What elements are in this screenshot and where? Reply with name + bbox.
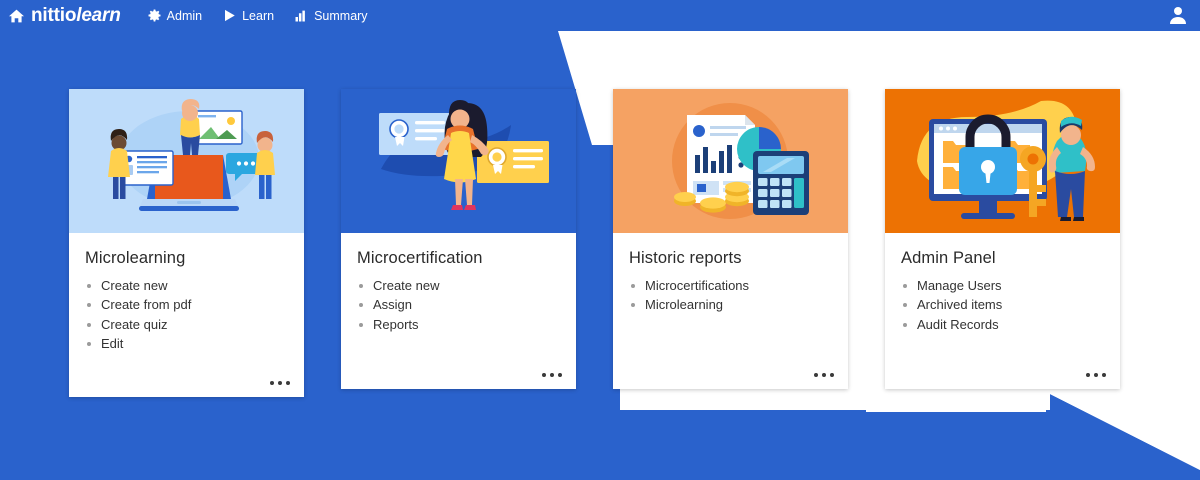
dot-icon xyxy=(550,373,555,378)
card-art-historic-reports xyxy=(613,89,848,233)
dot-icon xyxy=(270,381,275,386)
top-navigation-bar: nittiolearn Admin Learn Summary xyxy=(0,0,1200,31)
reports-calculator-illustration xyxy=(613,89,848,233)
card-link-edit[interactable]: Edit xyxy=(85,334,288,353)
bar-chart-icon xyxy=(294,8,309,23)
brand-name-bold: nittio xyxy=(31,5,76,26)
dot-icon xyxy=(278,381,283,386)
brand-name-italic: learn xyxy=(76,5,120,26)
card-art-microlearning xyxy=(69,89,304,233)
card-body-microlearning: Microlearning Create new Create from pdf… xyxy=(69,233,304,397)
card-link-archived-items[interactable]: Archived items xyxy=(901,295,1104,314)
dot-icon xyxy=(814,373,819,378)
dot-icon xyxy=(1102,373,1107,378)
dot-icon xyxy=(558,373,563,378)
app-root: nittiolearn Admin Learn Summary xyxy=(0,0,1200,480)
card-art-microcertification xyxy=(341,89,576,233)
card-body-admin-panel: Admin Panel Manage Users Archived items … xyxy=(885,233,1120,389)
card-title-microlearning: Microlearning xyxy=(85,249,288,268)
card-link-reports[interactable]: Reports xyxy=(357,315,560,334)
nav-item-learn[interactable]: Learn xyxy=(222,8,274,23)
card-link-audit-records[interactable]: Audit Records xyxy=(901,315,1104,334)
user-avatar-icon[interactable] xyxy=(1166,3,1190,27)
card-microlearning[interactable]: Microlearning Create new Create from pdf… xyxy=(69,89,304,397)
gear-icon xyxy=(147,8,162,23)
card-link-microlearning[interactable]: Microlearning xyxy=(629,295,832,314)
card-body-microcertification: Microcertification Create new Assign Rep… xyxy=(341,233,576,389)
dot-icon xyxy=(830,373,835,378)
home-icon[interactable] xyxy=(8,8,25,24)
certificate-woman-illustration xyxy=(341,89,576,233)
dot-icon xyxy=(1094,373,1099,378)
nav-item-admin[interactable]: Admin xyxy=(147,8,202,23)
card-title-microcertification: Microcertification xyxy=(357,249,560,268)
more-options-button-historic-reports[interactable] xyxy=(814,373,835,378)
elearning-laptop-illustration xyxy=(69,89,304,233)
card-link-create-from-pdf[interactable]: Create from pdf xyxy=(85,295,288,314)
brand-logo-group[interactable]: nittiolearn xyxy=(8,5,121,27)
more-options-button-admin-panel[interactable] xyxy=(1086,373,1107,378)
card-microcertification[interactable]: Microcertification Create new Assign Rep… xyxy=(341,89,576,389)
card-links-historic-reports: Microcertifications Microlearning xyxy=(629,276,832,315)
card-links-microcertification: Create new Assign Reports xyxy=(357,276,560,334)
card-historic-reports[interactable]: Historic reports Microcertifications Mic… xyxy=(613,89,848,389)
more-options-button-microcertification[interactable] xyxy=(542,373,563,378)
card-link-assign[interactable]: Assign xyxy=(357,295,560,314)
card-link-create-new[interactable]: Create new xyxy=(85,276,288,295)
card-body-historic-reports: Historic reports Microcertifications Mic… xyxy=(613,233,848,389)
card-title-admin-panel: Admin Panel xyxy=(901,249,1104,268)
nav-label-admin: Admin xyxy=(167,9,202,23)
play-icon xyxy=(222,8,237,23)
nav-label-learn: Learn xyxy=(242,9,274,23)
card-art-admin-panel xyxy=(885,89,1120,233)
dot-icon xyxy=(542,373,547,378)
nav-item-summary[interactable]: Summary xyxy=(294,8,367,23)
card-link-create-quiz[interactable]: Create quiz xyxy=(85,315,288,334)
card-link-microcertifications[interactable]: Microcertifications xyxy=(629,276,832,295)
card-title-historic-reports: Historic reports xyxy=(629,249,832,268)
dot-icon xyxy=(822,373,827,378)
card-links-admin-panel: Manage Users Archived items Audit Record… xyxy=(901,276,1104,334)
card-link-create-new[interactable]: Create new xyxy=(357,276,560,295)
security-lock-illustration xyxy=(885,89,1120,233)
dot-icon xyxy=(286,381,291,386)
more-options-button-microlearning[interactable] xyxy=(270,381,291,386)
dot-icon xyxy=(1086,373,1091,378)
card-links-microlearning: Create new Create from pdf Create quiz E… xyxy=(85,276,288,354)
card-admin-panel[interactable]: Admin Panel Manage Users Archived items … xyxy=(885,89,1120,389)
nav-label-summary: Summary xyxy=(314,9,367,23)
card-link-manage-users[interactable]: Manage Users xyxy=(901,276,1104,295)
brand-name: nittiolearn xyxy=(31,5,121,27)
